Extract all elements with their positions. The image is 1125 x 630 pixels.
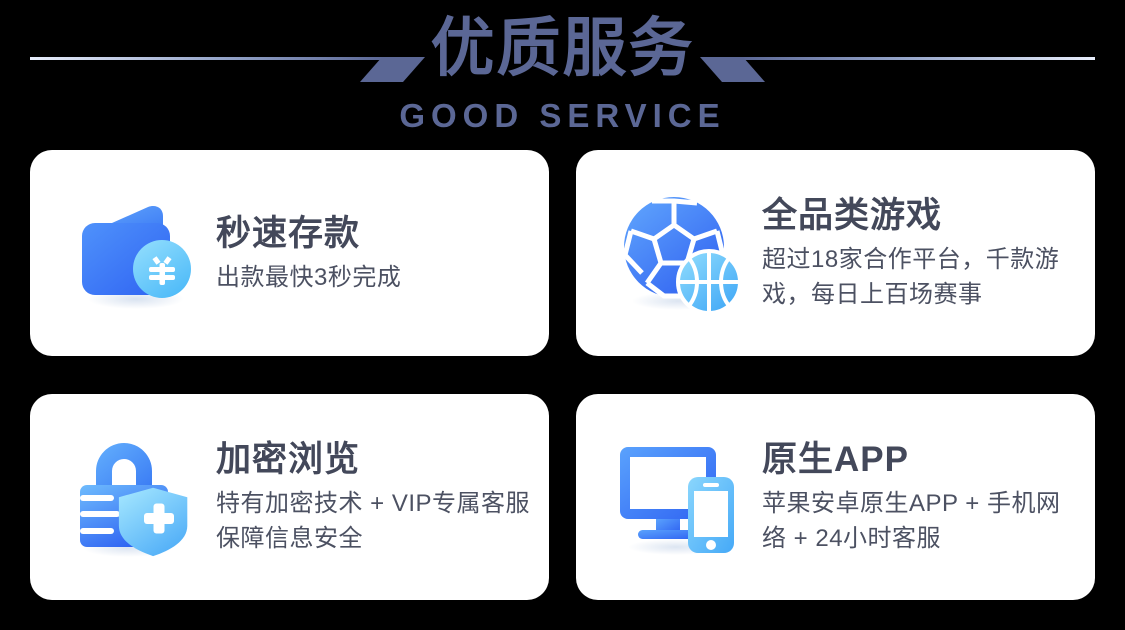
soccer-basketball-icon xyxy=(612,185,748,321)
card-title: 全品类游戏 xyxy=(762,194,1079,238)
page-subtitle: GOOD SERVICE xyxy=(0,96,1125,136)
card-description: 特有加密技术 + VIP专属客服保障信息安全 xyxy=(216,486,533,556)
card-text: 原生APP 苹果安卓原生APP + 手机网络 + 24小时客服 xyxy=(762,438,1095,556)
card-description: 超过18家合作平台，千款游戏，每日上百场赛事 xyxy=(762,242,1079,312)
page-title: 优质服务 xyxy=(0,8,1125,88)
promo-banner: 优质服务 GOOD SERVICE xyxy=(0,0,1125,630)
wallet-yen-icon xyxy=(66,185,202,321)
monitor-phone-icon xyxy=(612,429,748,565)
feature-card-grid: 秒速存款 出款最快3秒完成 xyxy=(30,150,1095,600)
card-description: 出款最快3秒完成 xyxy=(216,260,401,295)
feature-card-native-app[interactable]: 原生APP 苹果安卓原生APP + 手机网络 + 24小时客服 xyxy=(576,394,1095,600)
card-title: 加密浏览 xyxy=(216,438,533,482)
lock-shield-icon xyxy=(66,429,202,565)
feature-card-games[interactable]: 全品类游戏 超过18家合作平台，千款游戏，每日上百场赛事 xyxy=(576,150,1095,356)
card-text: 秒速存款 出款最快3秒完成 xyxy=(216,212,417,295)
header: 优质服务 GOOD SERVICE xyxy=(0,0,1125,146)
feature-card-encryption[interactable]: 加密浏览 特有加密技术 + VIP专属客服保障信息安全 xyxy=(30,394,549,600)
card-text: 加密浏览 特有加密技术 + VIP专属客服保障信息安全 xyxy=(216,438,549,556)
card-title: 原生APP xyxy=(762,438,1079,482)
card-description: 苹果安卓原生APP + 手机网络 + 24小时客服 xyxy=(762,486,1079,556)
feature-card-deposit[interactable]: 秒速存款 出款最快3秒完成 xyxy=(30,150,549,356)
card-title: 秒速存款 xyxy=(216,212,401,256)
card-text: 全品类游戏 超过18家合作平台，千款游戏，每日上百场赛事 xyxy=(762,194,1095,312)
